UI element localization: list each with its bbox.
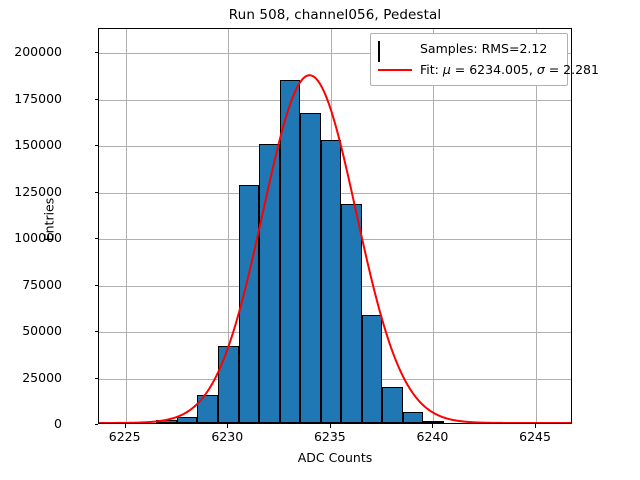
y-tick-label: 50000	[0, 323, 62, 338]
x-tick-mark	[535, 424, 536, 428]
y-tick-label: 200000	[0, 44, 62, 59]
y-tick-label: 175000	[0, 91, 62, 106]
mu-symbol: μ	[443, 62, 451, 77]
legend-item-fit: Fit: μ = 6234.005, σ = 2.281	[378, 59, 560, 80]
histogram-figure: Run 508, channel056, Pedestal 6225623062…	[0, 0, 640, 480]
fit-sigma-value: = 2.281	[545, 62, 599, 77]
fit-prefix: Fit:	[420, 62, 443, 77]
page-title: Run 508, channel056, Pedestal	[98, 7, 572, 23]
plot-area	[98, 28, 572, 424]
sigma-symbol: σ	[537, 62, 545, 77]
y-tick-label: 25000	[0, 370, 62, 385]
y-tick-mark	[95, 52, 99, 53]
y-tick-mark	[95, 145, 99, 146]
y-tick-label: 0	[0, 416, 62, 431]
fit-mu-value: = 6234.005,	[451, 62, 537, 77]
y-tick-mark	[95, 99, 99, 100]
x-tick-label: 6240	[397, 429, 467, 444]
x-axis-label: ADC Counts	[98, 450, 572, 465]
y-tick-mark	[95, 378, 99, 379]
legend-line-icon	[378, 63, 412, 77]
x-tick-mark	[432, 424, 433, 428]
legend-item-samples: Samples: RMS=2.12	[378, 38, 560, 59]
x-tick-mark	[227, 424, 228, 428]
y-tick-mark	[95, 192, 99, 193]
y-axis-label: Entries	[42, 160, 57, 280]
y-tick-mark	[95, 238, 99, 239]
legend: Samples: RMS=2.12 Fit: μ = 6234.005, σ =…	[370, 33, 568, 86]
x-tick-mark	[125, 424, 126, 428]
y-tick-mark	[95, 331, 99, 332]
y-tick-label: 150000	[0, 137, 62, 152]
x-tick-label: 6230	[192, 429, 262, 444]
fit-curve	[99, 29, 571, 423]
x-tick-mark	[330, 424, 331, 428]
x-tick-label: 6235	[295, 429, 365, 444]
legend-label-fit: Fit: μ = 6234.005, σ = 2.281	[420, 62, 599, 77]
y-tick-mark	[95, 424, 99, 425]
legend-patch-icon	[378, 42, 412, 56]
legend-label-samples: Samples: RMS=2.12	[420, 41, 547, 56]
y-tick-mark	[95, 285, 99, 286]
x-tick-label: 6225	[90, 429, 160, 444]
x-tick-label: 6245	[500, 429, 570, 444]
